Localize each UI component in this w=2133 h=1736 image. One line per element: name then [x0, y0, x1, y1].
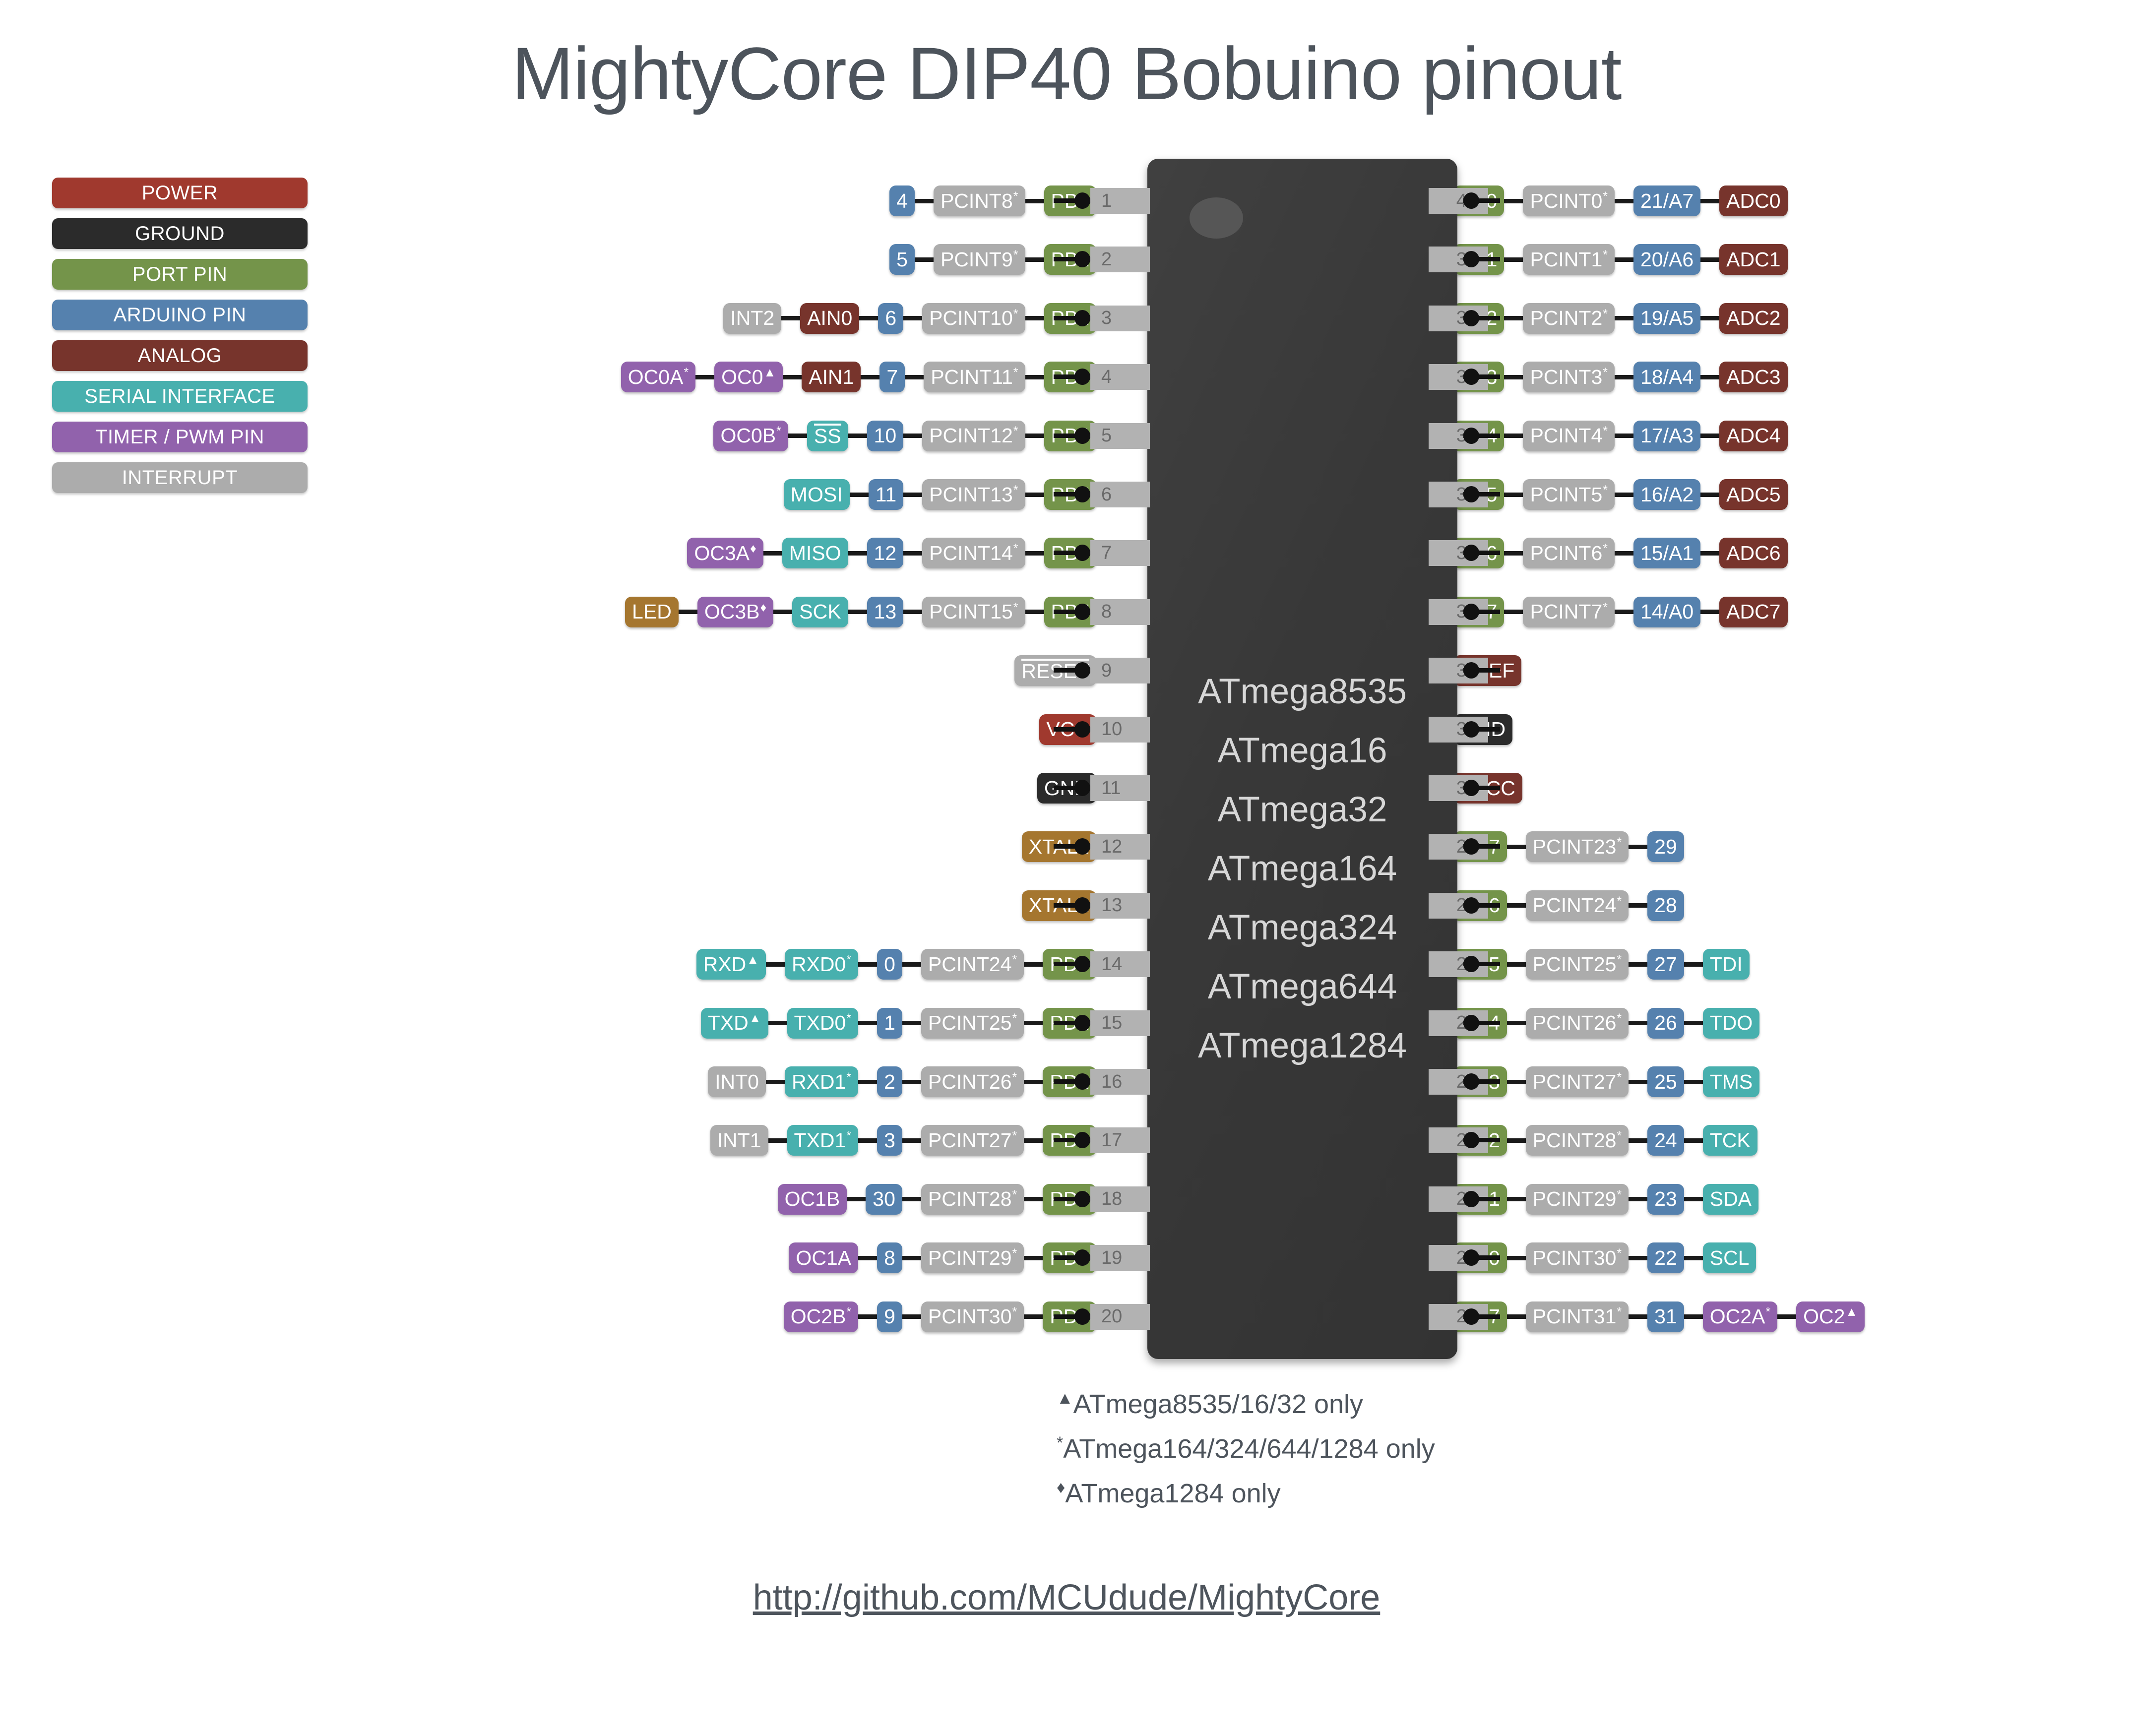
variant-marker: ♦ [750, 542, 756, 556]
pin-label-1: 1 [877, 1008, 902, 1039]
variant-marker: * [846, 1305, 851, 1319]
connector-line [915, 257, 934, 262]
pin-label-text: OC1B [785, 1187, 840, 1211]
project-url-link[interactable]: http://github.com/MCUdude/MightyCore [0, 1577, 2133, 1618]
pin-label-13: 13 [867, 597, 904, 627]
connector-line [1024, 1080, 1043, 1084]
pin-label-30: 30 [866, 1184, 902, 1215]
pin-label-pcint13: PCINT13* [922, 479, 1025, 510]
pin-row-36: PA4PCINT4*17/A3ADC4 [1453, 421, 1788, 451]
pin-label-text: INT2 [730, 307, 774, 330]
variant-marker: * [846, 1011, 851, 1025]
pin-label-text: PCINT11* [931, 366, 1018, 389]
pin-label-text: PCINT5* [1530, 483, 1608, 506]
pin-label-text: 7 [886, 366, 898, 389]
connector-line [1700, 493, 1719, 497]
connector-line [847, 1197, 866, 1201]
pin-label-text: 11 [876, 483, 897, 506]
footnote-text: ATmega8535/16/32 only [1073, 1389, 1363, 1419]
connector-line [1025, 375, 1044, 379]
connector-line [1684, 1021, 1703, 1025]
pin-number-9: 9 [1090, 658, 1150, 683]
connector-line [1507, 1080, 1526, 1084]
pin-number-4: 4 [1090, 364, 1150, 390]
variant-marker: * [1617, 1129, 1622, 1143]
variant-marker: * [1617, 1246, 1622, 1260]
pin-label-pcint31: PCINT31* [1526, 1302, 1629, 1332]
variant-marker: * [1603, 307, 1608, 321]
connector-line [773, 610, 792, 614]
variant-marker: ▲ [747, 953, 759, 967]
connector-line [679, 610, 697, 614]
pin-label-text: PCINT8* [941, 189, 1018, 213]
pin-lead [1463, 257, 1500, 261]
variant-marker: * [1012, 1188, 1017, 1202]
pin-label-text: PCINT1* [1530, 248, 1608, 271]
connector-line [1024, 1138, 1043, 1143]
variant-marker: * [1012, 1070, 1017, 1084]
legend-item-timer-pwm-pin: TIMER / PWM PIN [52, 422, 308, 452]
pin-label-text: 20/A6 [1640, 248, 1694, 271]
pin-number-10: 10 [1090, 717, 1150, 743]
pin-label-int0: INT0 [708, 1066, 766, 1097]
pin-label-text: 28 [1654, 894, 1677, 917]
connector-line [1615, 434, 1633, 438]
connector-line [1024, 1021, 1043, 1025]
pin-label-pcint26: PCINT26* [1526, 1008, 1629, 1039]
connector-line [858, 1138, 877, 1143]
pin-label-21a7: 21/A7 [1633, 186, 1700, 216]
pin-lead [1463, 1079, 1500, 1084]
pin-label-text: 9 [884, 1305, 895, 1328]
connector-line [768, 1138, 787, 1143]
pin-label-text: TXD▲ [708, 1011, 761, 1035]
connector-line [1629, 1314, 1647, 1319]
pin-label-3: 3 [877, 1125, 902, 1156]
connector-line [1504, 434, 1523, 438]
pin-label-adc0: ADC0 [1719, 186, 1787, 216]
legend-item-label: ANALOG [138, 345, 222, 367]
pin-row-33: PA7PCINT7*14/A0ADC7 [1453, 597, 1788, 627]
pin-label-pcint9: PCINT9* [934, 244, 1025, 275]
pin-lead [1054, 1314, 1090, 1319]
connector-line [1629, 962, 1647, 967]
pin-lead [1054, 610, 1090, 614]
variant-marker: * [684, 366, 689, 379]
pin-row-20: OC2B*9PCINT30*PD6 [784, 1302, 1096, 1332]
pin-row-5: OC0B*SS10PCINT12*PB4 [713, 421, 1096, 451]
pin-number-11: 11 [1090, 775, 1150, 801]
connector-line [902, 1256, 921, 1260]
connector-line [902, 1080, 921, 1084]
chip-name: ATmega8535 [1147, 662, 1457, 721]
pin-label-pcint10: PCINT10* [922, 303, 1025, 334]
pin-label-text: PCINT14* [929, 542, 1018, 565]
pin-lead [1463, 1255, 1500, 1260]
pin-row-3: INT2AIN06PCINT10*PB2 [723, 303, 1096, 334]
pin-label-text: 1 [884, 1011, 895, 1035]
pin-label-pcint29: PCINT29* [921, 1242, 1024, 1273]
chip-name: ATmega32 [1147, 780, 1457, 839]
chip-body: ATmega8535ATmega16ATmega32ATmega164ATmeg… [1147, 159, 1457, 1359]
legend-item-label: GROUND [135, 223, 225, 245]
chip-name: ATmega644 [1147, 957, 1457, 1016]
pin-label-text: PCINT29* [928, 1246, 1017, 1270]
variant-marker: * [1617, 835, 1622, 849]
pin-label-text: 14/A0 [1640, 600, 1694, 623]
legend-item-label: TIMER / PWM PIN [95, 426, 264, 448]
pin-label-text: 31 [1654, 1305, 1677, 1328]
connector-line [1504, 199, 1523, 203]
pin-label-text: 12 [874, 542, 897, 565]
variant-marker: * [776, 424, 781, 438]
pin-number-13: 13 [1090, 893, 1150, 919]
connector-line [1504, 493, 1523, 497]
legend-item-power: POWER [52, 178, 308, 208]
page-title: MightyCore DIP40 Bobuino pinout [0, 31, 2133, 117]
pin-number-7: 7 [1090, 540, 1150, 566]
connector-line [766, 962, 785, 967]
pin-lead [1054, 1197, 1090, 1201]
pin-label-16a2: 16/A2 [1633, 479, 1700, 510]
pin-label-8: 8 [877, 1242, 902, 1273]
variant-marker: * [1013, 307, 1018, 321]
pin-label-oc1b: OC1B [778, 1184, 847, 1215]
footnote: *ATmega164/324/644/1284 only [1057, 1433, 1435, 1464]
pin-label-text: 22 [1654, 1246, 1677, 1270]
connector-line [1629, 1256, 1647, 1260]
pin-label-text: ADC6 [1726, 542, 1780, 565]
pin-row-38: PA2PCINT2*19/A5ADC2 [1453, 303, 1788, 334]
pin-label-pcint28: PCINT28* [921, 1184, 1024, 1215]
connector-line [902, 962, 921, 967]
connector-line [1504, 316, 1523, 320]
connector-line [1507, 903, 1526, 908]
pin-label-txd1: TXD1* [787, 1125, 859, 1156]
legend-item-port-pin: PORT PIN [52, 259, 308, 290]
pin-label-pcint12: PCINT12* [922, 421, 1025, 451]
pin-label-text: RXD▲ [703, 953, 759, 976]
pin-label-text: TXD1* [794, 1129, 852, 1152]
pin-label-text: SCL [1710, 1246, 1750, 1270]
pin-lead [1463, 1314, 1500, 1319]
connector-line [1507, 1197, 1526, 1201]
legend-item-label: POWER [142, 182, 218, 204]
pin-number-20: 20 [1090, 1304, 1150, 1330]
legend: POWERGROUNDPORT PINARDUINO PINANALOGSERI… [52, 178, 308, 503]
connector-line [1507, 845, 1526, 849]
connector-line [1684, 1138, 1703, 1143]
chip-notch-icon [1190, 197, 1243, 239]
connector-line [1504, 610, 1523, 614]
connector-line [1700, 316, 1719, 320]
pin-label-tms: TMS [1703, 1066, 1760, 1097]
pin-label-pcint27: PCINT27* [1526, 1066, 1629, 1097]
pin-label-10: 10 [867, 421, 904, 451]
pin-label-pcint6: PCINT6* [1523, 538, 1615, 568]
pin-lead [1054, 903, 1090, 908]
pin-row-17: INT1TXD1*3PCINT27*PD3 [710, 1125, 1096, 1156]
variant-marker: * [846, 1070, 851, 1084]
pin-label-text: PCINT12* [929, 424, 1018, 447]
pin-number-17: 17 [1090, 1127, 1150, 1153]
legend-item-arduino-pin: ARDUINO PIN [52, 300, 308, 330]
pin-label-text: 18/A4 [1640, 366, 1694, 389]
pin-label-pcint11: PCINT11* [924, 362, 1025, 392]
pin-label-pcint23: PCINT23* [1526, 831, 1629, 862]
connector-line [1507, 1256, 1526, 1260]
pin-lead [1463, 844, 1500, 849]
pin-label-text: OC2B* [791, 1305, 851, 1328]
pin-label-oc2a: OC2A* [1703, 1302, 1777, 1332]
variant-marker: * [1603, 601, 1608, 615]
pin-lead [1463, 434, 1500, 438]
variant-marker: * [1012, 1129, 1017, 1143]
pin-label-text: MOSI [791, 483, 843, 506]
pin-label-adc5: ADC5 [1719, 479, 1787, 510]
variant-marker: * [1617, 953, 1622, 967]
variant-marker: * [846, 1129, 851, 1143]
pin-label-9: 9 [877, 1302, 902, 1332]
pin-label-adc1: ADC1 [1719, 244, 1787, 275]
pin-lead [1054, 374, 1090, 379]
connector-line [788, 434, 807, 438]
connector-line [1700, 199, 1719, 203]
pin-label-text: OC1A [796, 1246, 851, 1270]
pin-label-pcint26: PCINT26* [921, 1066, 1024, 1097]
pin-lead [1054, 1138, 1090, 1142]
pin-lead [1054, 1079, 1090, 1084]
pin-row-39: PA1PCINT1*20/A6ADC1 [1453, 244, 1788, 275]
connector-line [1700, 257, 1719, 262]
pin-lead [1054, 668, 1090, 673]
pin-label-adc7: ADC7 [1719, 597, 1787, 627]
pin-label-29: 29 [1647, 831, 1684, 862]
connector-line [768, 1021, 787, 1025]
pin-row-40: PA0PCINT0*21/A7ADC0 [1453, 186, 1788, 216]
pin-row-21: PD7PCINT31*31OC2A*OC2▲ [1453, 1302, 1865, 1332]
variant-marker: * [1765, 1305, 1770, 1319]
pin-label-sda: SDA [1703, 1184, 1758, 1215]
connector-line [1629, 845, 1647, 849]
legend-item-interrupt: INTERRUPT [52, 462, 308, 493]
variant-marker: * [1012, 1011, 1017, 1025]
pin-label-text: PCINT15* [929, 600, 1018, 623]
connector-line [1025, 610, 1044, 614]
pin-row-19: OC1A8PCINT29*PD5 [789, 1242, 1096, 1273]
pin-number-12: 12 [1090, 834, 1150, 860]
variant-marker: * [1617, 1011, 1622, 1025]
pin-label-rxd: RXD▲ [696, 949, 766, 980]
pin-row-7: OC3A♦MISO12PCINT14*PB6 [687, 538, 1096, 568]
connector-line [915, 199, 934, 203]
pin-label-24: 24 [1647, 1125, 1684, 1156]
variant-marker: * [1603, 248, 1608, 262]
pin-label-oc2: OC2▲ [1796, 1302, 1865, 1332]
pin-row-15: TXD▲TXD0*1PCINT25*PD1 [701, 1008, 1096, 1039]
pin-label-text: TDO [1710, 1011, 1753, 1035]
pin-number-3: 3 [1090, 306, 1150, 331]
footnote: ▲ATmega8535/16/32 only [1057, 1389, 1435, 1420]
pin-label-rxd0: RXD0* [785, 949, 858, 980]
pin-lead [1463, 786, 1500, 790]
variant-marker: ▲ [763, 366, 776, 379]
connector-line [1629, 903, 1647, 908]
pin-label-text: TXD0* [794, 1011, 852, 1035]
connector-line [1684, 1314, 1703, 1319]
pin-label-adc4: ADC4 [1719, 421, 1787, 451]
pin-label-miso: MISO [782, 538, 848, 568]
pin-label-adc2: ADC2 [1719, 303, 1787, 334]
pin-label-pcint4: PCINT4* [1523, 421, 1615, 451]
variant-marker: ▲ [1845, 1305, 1858, 1319]
connector-line [903, 610, 922, 614]
pin-label-25: 25 [1647, 1066, 1684, 1097]
pin-number-8: 8 [1090, 599, 1150, 625]
pin-label-text: OC3A♦ [694, 542, 756, 565]
pin-label-pcint24: PCINT24* [921, 949, 1024, 980]
connector-line [1629, 1138, 1647, 1143]
connector-line [861, 375, 879, 379]
connector-line [1025, 551, 1044, 556]
pin-label-text: SDA [1710, 1187, 1752, 1211]
variant-marker: * [1603, 189, 1608, 203]
pin-lead [1463, 316, 1500, 320]
pin-label-0: 0 [877, 949, 902, 980]
pin-label-adc3: ADC3 [1719, 362, 1787, 392]
pin-label-pcint29: PCINT29* [1526, 1184, 1629, 1215]
connector-line [1504, 257, 1523, 262]
connector-line [1615, 257, 1633, 262]
pin-label-text: 23 [1654, 1187, 1677, 1211]
pin-label-text: ADC3 [1726, 366, 1780, 389]
pin-label-tck: TCK [1703, 1125, 1757, 1156]
pin-label-pcint7: PCINT7* [1523, 597, 1615, 627]
pin-label-pcint30: PCINT30* [1526, 1242, 1629, 1273]
pin-label-text: PCINT3* [1530, 366, 1608, 389]
legend-item-ground: GROUND [52, 218, 308, 249]
pin-label-text: 21/A7 [1640, 189, 1694, 213]
connector-line [1615, 610, 1633, 614]
connector-line [902, 1197, 921, 1201]
pin-lead [1463, 492, 1500, 496]
pin-lead [1463, 727, 1500, 732]
connector-line [1629, 1080, 1647, 1084]
pin-label-pcint2: PCINT2* [1523, 303, 1615, 334]
pin-number-15: 15 [1090, 1010, 1150, 1036]
footnote-text: ATmega164/324/644/1284 only [1063, 1434, 1435, 1464]
footnote-marker: ♦ [1057, 1478, 1065, 1497]
connector-line [766, 1080, 785, 1084]
variant-marker: * [1617, 894, 1622, 908]
footnote-marker: * [1057, 1433, 1063, 1452]
pin-label-15a1: 15/A1 [1633, 538, 1700, 568]
connector-line [1700, 610, 1719, 614]
pin-row-34: PA6PCINT6*15/A1ADC6 [1453, 538, 1788, 568]
legend-item-label: SERIAL INTERFACE [84, 385, 275, 408]
pin-number-18: 18 [1090, 1186, 1150, 1212]
pin-label-17a3: 17/A3 [1633, 421, 1700, 451]
pin-label-pcint30: PCINT30* [921, 1302, 1024, 1332]
pin-lead [1054, 434, 1090, 438]
pin-label-text: AIN1 [809, 366, 854, 389]
pin-label-text: PCINT25* [928, 1011, 1017, 1035]
connector-line [1024, 1256, 1043, 1260]
variant-marker: * [1617, 1070, 1622, 1084]
pin-lead [1054, 786, 1090, 790]
pin-label-text: TDI [1710, 953, 1743, 976]
pin-label-text: 16/A2 [1640, 483, 1694, 506]
connector-line [1684, 1256, 1703, 1260]
connector-line [781, 316, 800, 320]
pin-row-6: MOSI11PCINT13*PB5 [784, 479, 1096, 510]
pin-label-text: 13 [874, 600, 897, 623]
legend-item-label: PORT PIN [132, 263, 227, 286]
connector-line [848, 551, 867, 556]
pin-number-1: 1 [1090, 188, 1150, 214]
chip-name: ATmega324 [1147, 898, 1457, 957]
pin-lead [1054, 1021, 1090, 1025]
variant-marker: * [1013, 189, 1018, 203]
pin-label-oc3a: OC3A♦ [687, 538, 763, 568]
connector-line [1684, 1197, 1703, 1201]
pin-lead [1463, 1021, 1500, 1025]
connector-line [1684, 962, 1703, 967]
connector-line [1025, 434, 1044, 438]
pin-label-text: OC2▲ [1803, 1305, 1858, 1328]
pin-label-text: 8 [884, 1246, 895, 1270]
pin-label-tdo: TDO [1703, 1008, 1760, 1039]
variant-marker: * [1013, 601, 1018, 615]
pin-label-text: OC3B♦ [704, 600, 766, 623]
connector-line [903, 493, 922, 497]
footnote-marker: ▲ [1057, 1389, 1073, 1408]
pin-label-12: 12 [867, 538, 904, 568]
footnotes: ▲ATmega8535/16/32 only*ATmega164/324/644… [1057, 1389, 1435, 1523]
pin-lead [1054, 257, 1090, 261]
connector-line [1504, 551, 1523, 556]
pin-row-4: OC0A*OC0▲AIN17PCINT11*PB3 [621, 362, 1096, 392]
pin-label-text: PCINT25* [1533, 953, 1622, 976]
variant-marker: ♦ [760, 601, 766, 615]
pin-label-text: SCK [799, 600, 841, 623]
connector-line [1777, 1314, 1796, 1319]
variant-marker: * [1013, 542, 1018, 556]
pin-label-text: TMS [1710, 1070, 1753, 1094]
pin-label-text: RXD1* [792, 1070, 851, 1094]
pin-label-text: ADC7 [1726, 600, 1780, 623]
pin-label-22: 22 [1647, 1242, 1684, 1273]
connector-line [1504, 375, 1523, 379]
pin-lead [1054, 727, 1090, 732]
pin-label-text: PCINT27* [928, 1129, 1017, 1152]
connector-line [1700, 434, 1719, 438]
chip-name: ATmega1284 [1147, 1016, 1457, 1075]
pin-label-text: PCINT10* [929, 307, 1018, 330]
pin-lead [1054, 316, 1090, 320]
variant-marker: * [1012, 1246, 1017, 1260]
pin-label-23: 23 [1647, 1184, 1684, 1215]
variant-marker: * [1013, 248, 1018, 262]
connector-line [902, 1021, 921, 1025]
pin-label-text: PCINT0* [1530, 189, 1608, 213]
pin-label-int2: INT2 [723, 303, 781, 334]
variant-marker: * [1603, 424, 1608, 438]
pin-label-pcint0: PCINT0* [1523, 186, 1615, 216]
pin-label-text: MISO [789, 542, 841, 565]
pin-label-text: 24 [1654, 1129, 1677, 1152]
pin-label-text: 29 [1654, 835, 1677, 859]
